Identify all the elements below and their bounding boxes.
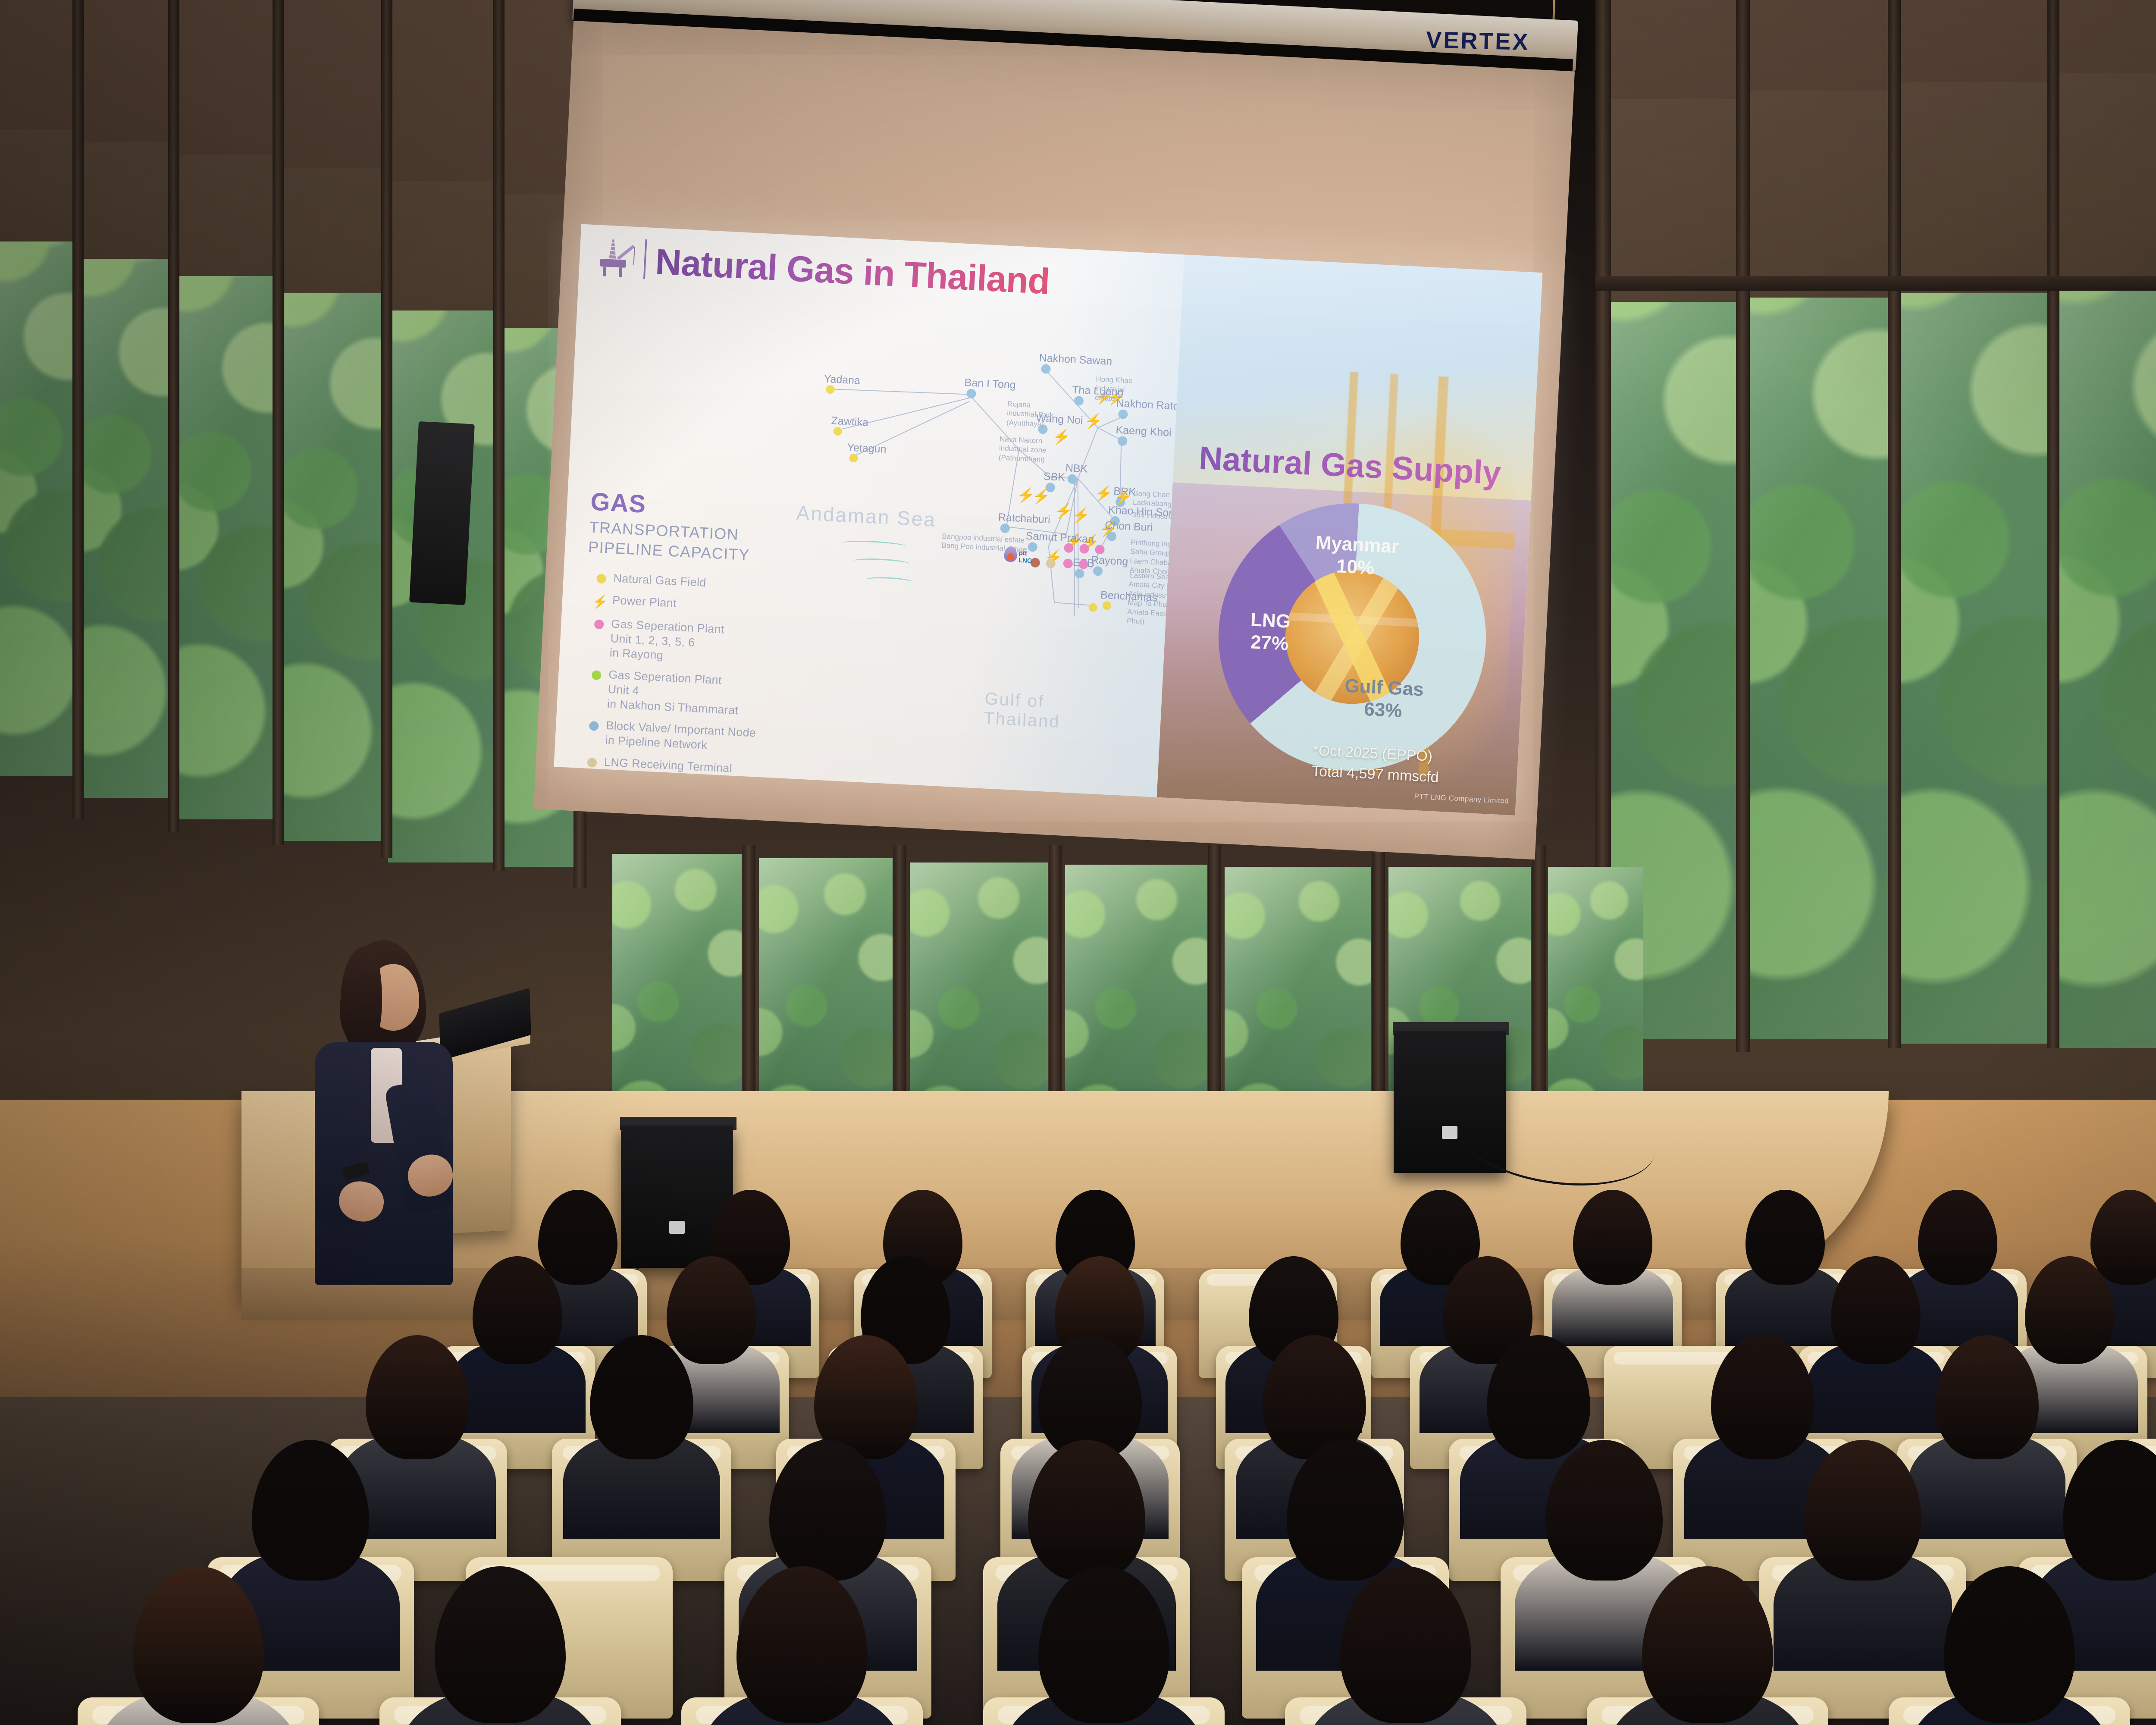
audience-member <box>769 1440 887 1581</box>
audience-head <box>1745 1190 1825 1285</box>
auditorium-room: VERTEX <box>0 0 2156 1725</box>
audience-member <box>1944 1566 2075 1724</box>
audience-member <box>1028 1440 1145 1581</box>
audience-head <box>473 1256 562 1364</box>
audience-head <box>736 1566 868 1724</box>
audience-member <box>1038 1566 1169 1724</box>
audience-member <box>736 1566 868 1724</box>
audience-head <box>1944 1566 2075 1724</box>
audience-member <box>1642 1566 1773 1724</box>
screenshot-root: VERTEX <box>0 0 2156 1725</box>
audience-member <box>1340 1566 1471 1724</box>
audience-head <box>1935 1335 2039 1459</box>
audience-member <box>1573 1190 1652 1285</box>
audience-member <box>133 1566 264 1724</box>
audience-member <box>1287 1440 1404 1581</box>
audience-head <box>2063 1440 2156 1581</box>
audience-head <box>769 1440 887 1581</box>
audience-head <box>1028 1440 1145 1581</box>
audience-head <box>1340 1566 1471 1724</box>
audience-head <box>1804 1440 1921 1581</box>
audience-member <box>435 1566 566 1724</box>
audience-head <box>1642 1566 1773 1724</box>
audience-head <box>133 1566 264 1724</box>
audience-member <box>252 1440 369 1581</box>
audience-member <box>1545 1440 1663 1581</box>
audience-head <box>1831 1256 1921 1364</box>
audience-head <box>252 1440 369 1581</box>
audience-member <box>366 1335 469 1459</box>
audience-head <box>1545 1440 1663 1581</box>
audience-member <box>1804 1440 1921 1581</box>
audience-member <box>1711 1335 1814 1459</box>
audience <box>0 0 2156 1725</box>
audience-head <box>1573 1190 1652 1285</box>
audience-head <box>435 1566 566 1724</box>
audience-head <box>366 1335 469 1459</box>
audience-head <box>1038 1566 1169 1724</box>
audience-head <box>1711 1335 1814 1459</box>
audience-member <box>1935 1335 2039 1459</box>
audience-member <box>590 1335 693 1459</box>
audience-member <box>2063 1440 2156 1581</box>
audience-member <box>473 1256 562 1364</box>
audience-head <box>1918 1190 1997 1285</box>
audience-member <box>1831 1256 1921 1364</box>
audience-member <box>1918 1190 1997 1285</box>
audience-head <box>1287 1440 1404 1581</box>
audience-member <box>1745 1190 1825 1285</box>
audience-head <box>590 1335 693 1459</box>
